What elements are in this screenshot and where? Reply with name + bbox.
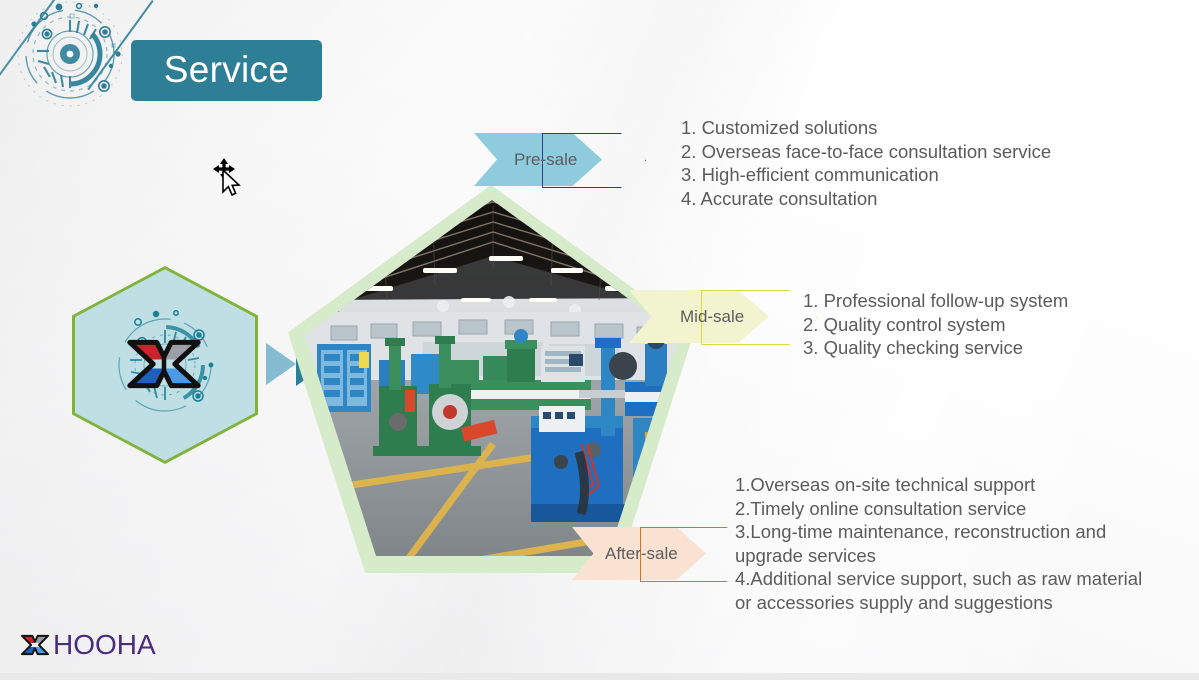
tech-circle-icon [8,0,138,124]
brand-name: HOOHA [53,631,156,659]
stage-chevron-after-sale[interactable]: After-sale [572,527,752,580]
stage-items-after-sale: 1.Overseas on-site technical support 2.T… [735,473,1160,614]
presentation-slide: Service [0,0,1199,680]
factory-photo [305,200,679,556]
stage-items-pre-sale: 1. Customized solutions 2. Overseas face… [681,116,1051,210]
list-item: 2.Timely online consultation service [735,497,1160,521]
hooha-x-logo-icon-small [18,630,52,660]
hooha-x-logo-icon [119,319,209,409]
brand-logo: HOOHA [18,628,156,662]
list-item: 2. Overseas face-to-face consultation se… [681,140,1051,164]
list-item: 3. High-efficient communication [681,163,1051,187]
page-title: Service [131,40,322,101]
stage-chevron-pre-sale[interactable]: Pre-sale [474,133,644,186]
hexagon-logo-badge [72,266,258,464]
list-item: 1. Professional follow-up system [803,289,1068,313]
stage-label-mid-sale: Mid-sale [680,307,744,327]
list-item: 1.Overseas on-site technical support [735,473,1160,497]
page-title-text: Service [164,51,289,91]
bottom-strip [0,673,1199,680]
move-cursor-icon [213,158,249,200]
list-item: 4. Accurate consultation [681,187,1051,211]
list-item: 2. Quality control system [803,313,1068,337]
stage-label-after-sale: After-sale [605,544,678,564]
list-item: 4.Additional service support, such as ra… [735,567,1160,614]
list-item: 3.Long-time maintenance, reconstruction … [735,520,1160,567]
stage-label-pre-sale: Pre-sale [514,150,577,170]
arrow-right-light-icon [266,343,296,385]
list-item: 3. Quality checking service [803,336,1068,360]
stage-items-mid-sale: 1. Professional follow-up system 2. Qual… [803,289,1068,360]
list-item: 1. Customized solutions [681,116,1051,140]
stage-chevron-mid-sale[interactable]: Mid-sale [629,290,815,343]
